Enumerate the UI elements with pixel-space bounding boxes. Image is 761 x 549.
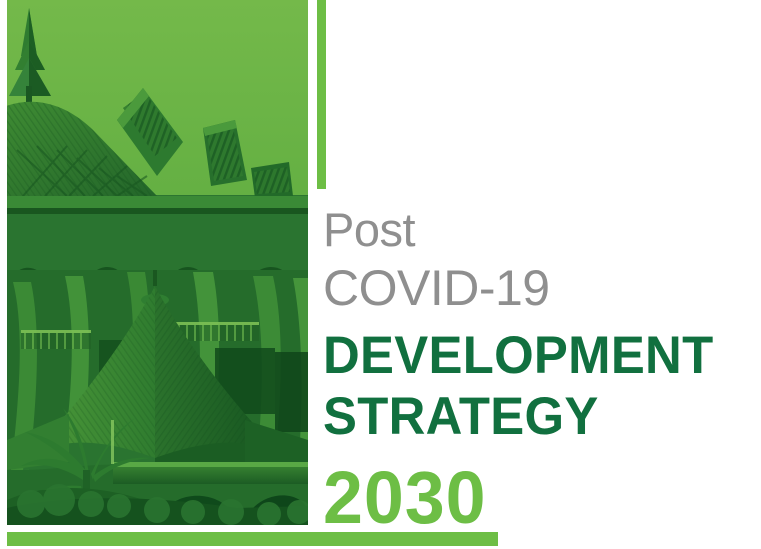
hero-photo <box>7 0 308 525</box>
title-main-development: DEVELOPMENT <box>323 329 736 382</box>
bottom-green-accent-bar <box>7 532 498 546</box>
cover-page: Post COVID-19 DEVELOPMENT STRATEGY 2030 <box>0 0 761 549</box>
title-main-strategy: STRATEGY <box>323 390 736 443</box>
title-prefix-covid: COVID-19 <box>323 263 753 313</box>
title-prefix-post: Post <box>323 206 753 253</box>
cover-title-block: Post COVID-19 DEVELOPMENT STRATEGY 2030 <box>323 206 753 535</box>
angular-roof-plate-far-right <box>251 162 293 198</box>
vertical-green-accent-bar <box>317 0 326 189</box>
green-duotone-building-photo <box>7 0 308 525</box>
title-year: 2030 <box>323 461 740 535</box>
